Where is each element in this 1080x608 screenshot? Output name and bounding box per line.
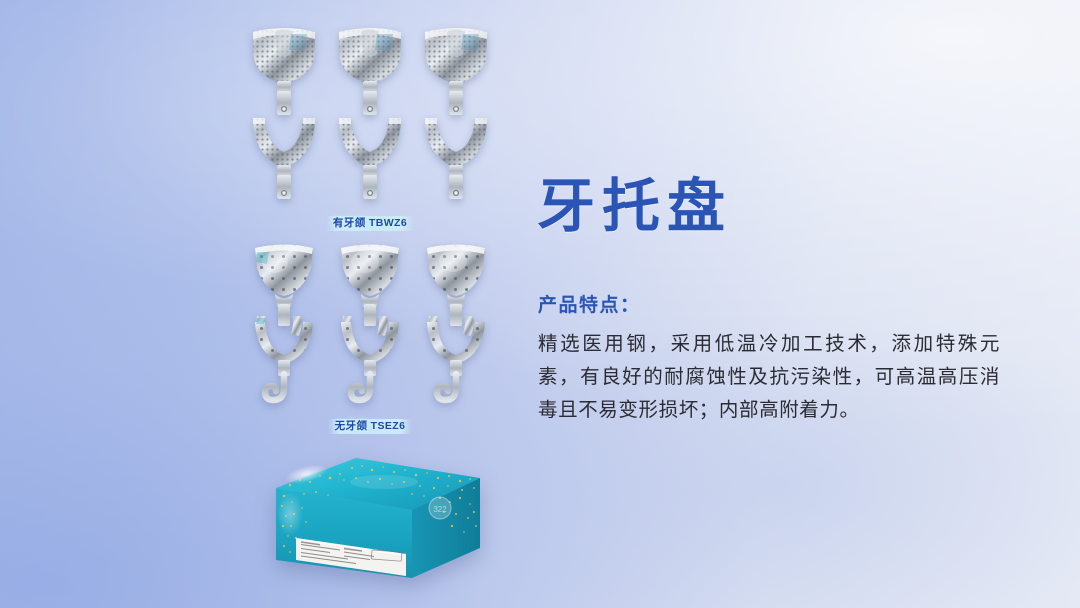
lower-dentate-tray xyxy=(417,112,495,208)
slide-root: 有牙颌 TBWZ6 xyxy=(0,0,1080,608)
product-box: 322 xyxy=(244,452,496,592)
dentate-caption: 有牙颌 TBWZ6 xyxy=(236,215,504,230)
page-title: 牙托盘 xyxy=(537,178,732,236)
lower-dentate-tray xyxy=(245,112,323,208)
lower-edentulous-row xyxy=(236,312,504,408)
upper-arch-row xyxy=(236,24,504,120)
upper-dentate-tray xyxy=(245,24,323,120)
lower-dentate-tray xyxy=(331,112,409,208)
features-paragraph: 精选医用钢，采用低温冷加工技术，添加特殊元素，有良好的耐腐蚀性及抗污染性，可高温… xyxy=(538,328,1000,427)
lower-edentulous-tray xyxy=(245,312,323,408)
lower-edentulous-tray xyxy=(417,312,495,408)
upper-dentate-tray xyxy=(417,24,495,120)
dentate-caption-text: 有牙颌 TBWZ6 xyxy=(326,216,414,231)
edentulous-caption-text: 无牙颌 TSEZ6 xyxy=(328,419,413,434)
features-body: 精选医用钢，采用低温冷加工技术，添加特殊元素，有良好的耐腐蚀性及抗污染性，可高温… xyxy=(538,328,1000,427)
svg-text:322: 322 xyxy=(433,505,447,514)
features-heading: 产品特点： xyxy=(538,290,641,317)
product-gallery: 有牙颌 TBWZ6 xyxy=(236,0,504,608)
lower-arch-row xyxy=(236,112,504,208)
text-panel: 牙托盘 产品特点： 精选医用钢，采用低温冷加工技术，添加特殊元素，有良好的耐腐蚀… xyxy=(537,0,1042,608)
edentulous-caption: 无牙颌 TSEZ6 xyxy=(236,418,504,433)
upper-dentate-tray xyxy=(331,24,409,120)
lower-edentulous-tray xyxy=(331,312,409,408)
